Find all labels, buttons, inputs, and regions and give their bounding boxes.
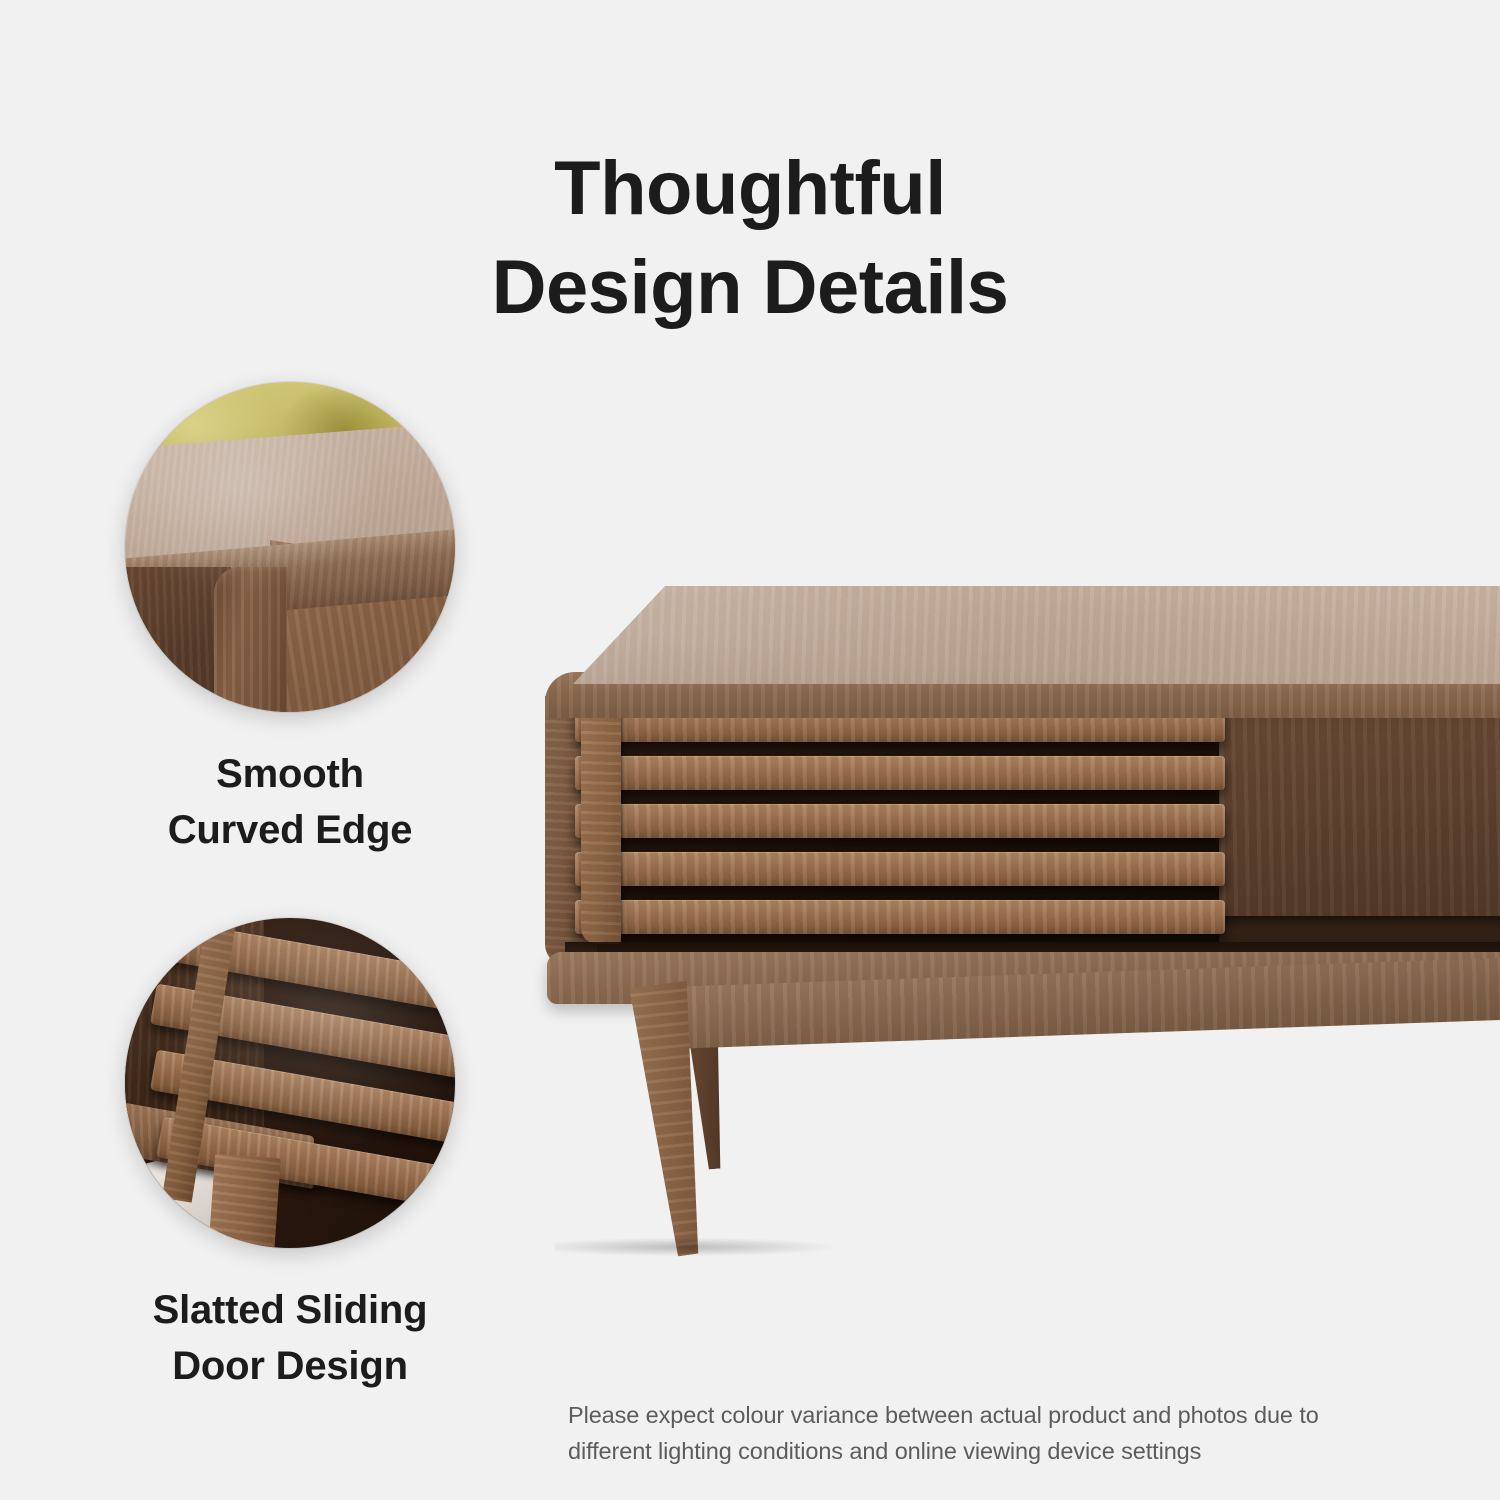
feature-smooth-curved-edge: Smooth Curved Edge — [0, 382, 580, 858]
colour-variance-disclaimer: Please expect colour variance between ac… — [568, 1398, 1448, 1469]
slatted-sliding-door[interactable] — [575, 694, 1225, 960]
feature-thumbnail-wrapper — [125, 918, 455, 1248]
disclaimer-line-2: different lighting conditions and online… — [568, 1434, 1448, 1470]
slatted-door-scene — [125, 918, 455, 1248]
top-surface-plane — [573, 586, 1500, 684]
feature-label-slatted-sliding-door: Slatted Sliding Door Design — [0, 1282, 580, 1394]
door-slat-4 — [575, 852, 1225, 886]
page-title-line-2: Design Details — [0, 239, 1500, 338]
door-slat-2 — [575, 756, 1225, 790]
page-title-line-1: Thoughtful — [0, 140, 1500, 239]
feature-thumbnail-wrapper — [125, 382, 455, 712]
feature-label-line-1: Smooth — [0, 746, 580, 802]
feature-label-smooth-curved-edge: Smooth Curved Edge — [0, 746, 580, 858]
feature-label-line-1: Slatted Sliding — [0, 1282, 580, 1338]
feature-slatted-sliding-door: Slatted Sliding Door Design — [0, 918, 580, 1394]
feature-label-line-2: Curved Edge — [0, 802, 580, 858]
door-slat-5 — [575, 900, 1225, 934]
product-image-walnut-tv-console — [545, 586, 1500, 1256]
page-title: Thoughtful Design Details — [0, 140, 1500, 338]
floor-contact-shadow — [555, 1234, 985, 1260]
curved-edge-thumbnail-image — [125, 382, 455, 712]
highlight-sheen — [125, 382, 455, 712]
slatted-door-thumbnail-image — [125, 918, 455, 1248]
highlight-sheen — [125, 918, 455, 1248]
door-slat-3 — [575, 804, 1225, 838]
feature-label-line-2: Door Design — [0, 1338, 580, 1394]
disclaimer-line-1: Please expect colour variance between ac… — [568, 1398, 1448, 1434]
door-vertical-stile — [581, 696, 621, 944]
curved-edge-scene — [125, 382, 455, 712]
